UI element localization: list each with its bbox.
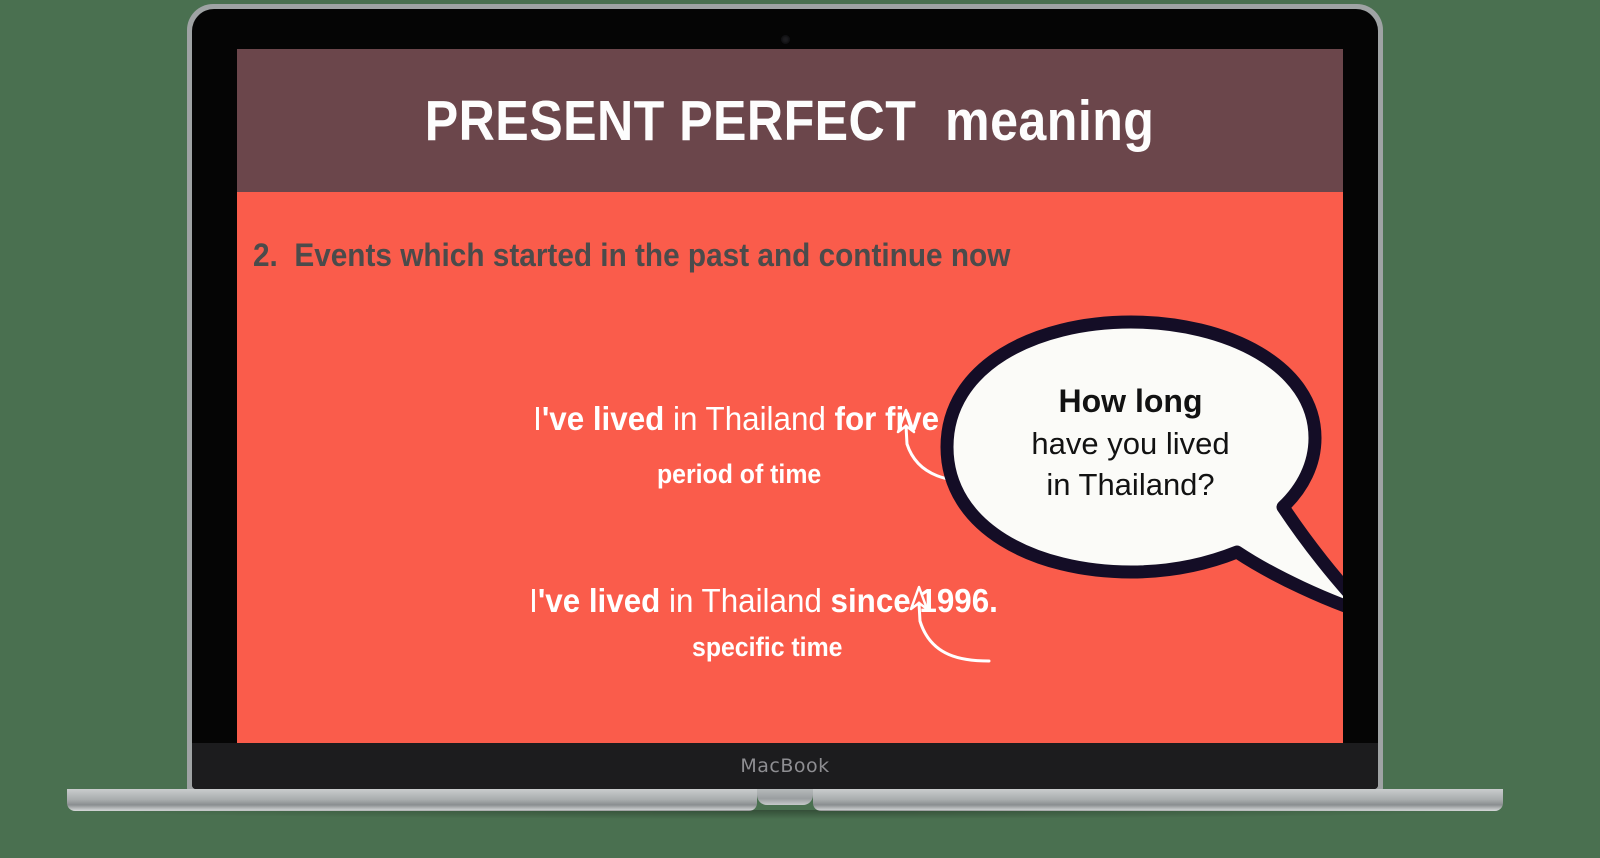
laptop-lid: PRESENT PERFECT meaning 2. Events which …: [187, 4, 1383, 794]
laptop-chin: MacBook: [192, 743, 1378, 789]
macbook-wordmark: MacBook: [740, 755, 829, 777]
page-title: PRESENT PERFECT meaning: [425, 88, 1155, 154]
slide-header-bar: PRESENT PERFECT meaning: [237, 49, 1343, 192]
laptop-bezel: PRESENT PERFECT meaning 2. Events which …: [192, 9, 1378, 789]
speech-bubble-line-1: How long: [1059, 383, 1203, 419]
example-1-bold-verb: 've lived: [542, 400, 664, 437]
speech-bubble-text: How long have you lived in Thailand?: [937, 380, 1324, 506]
speech-bubble-line-2: have you lived: [1031, 426, 1229, 461]
laptop-base: [67, 789, 1503, 811]
webcam-icon: [781, 35, 790, 44]
example-1-middle: in Thailand: [664, 400, 834, 437]
annotation-specific-time: specific time: [692, 632, 842, 663]
example-1-prefix: I: [533, 400, 542, 437]
example-2-bold-verb: 've lived: [538, 582, 660, 619]
laptop-base-shadow: [67, 810, 1503, 819]
example-2-middle: in Thailand: [660, 582, 830, 619]
laptop-base-right: [813, 789, 1503, 811]
example-2-prefix: I: [529, 582, 538, 619]
slide-subtitle: 2. Events which started in the past and …: [253, 237, 1010, 274]
annotation-period-of-time: period of time: [657, 459, 821, 490]
speech-bubble: How long have you lived in Thailand?: [937, 314, 1343, 679]
laptop-base-left: [67, 789, 757, 811]
slide-canvas: PRESENT PERFECT meaning 2. Events which …: [237, 49, 1343, 749]
speech-bubble-line-3: in Thailand?: [1046, 467, 1214, 502]
laptop-mockup: PRESENT PERFECT meaning 2. Events which …: [187, 4, 1383, 794]
laptop-base-notch: [757, 789, 813, 805]
